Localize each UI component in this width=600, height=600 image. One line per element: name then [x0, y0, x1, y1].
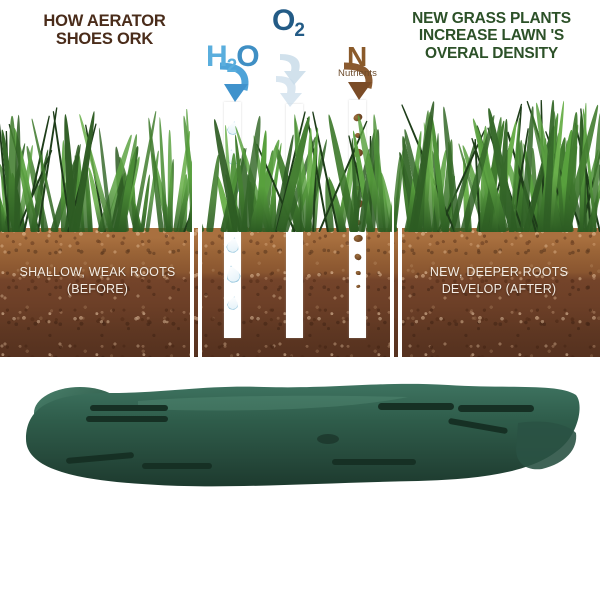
page-title-left: HOW AERATOR SHOES ORK	[12, 12, 197, 49]
h2o-o: O	[236, 40, 258, 73]
channel-tip	[224, 325, 241, 338]
nutrient-particle	[355, 270, 360, 274]
aerator-infographic-panel: HOW AERATOR SHOES ORK NEW GRASS PLANTS I…	[0, 0, 600, 357]
strap-slot	[332, 459, 416, 465]
oxygen-inflow-arrow-icon	[272, 52, 318, 118]
h2o-h: H	[206, 40, 227, 73]
strap-slot	[378, 403, 454, 410]
aerator-shoe-sole	[18, 379, 584, 509]
product-photo	[0, 357, 600, 600]
o2-subscript: 2	[294, 20, 304, 41]
o2-o: O	[272, 4, 294, 37]
caption-after: NEW, DEEPER ROOTS DEVELOP (AFTER)	[404, 264, 594, 298]
grass-zone-before	[0, 96, 192, 232]
label-nutrients: Nutrients	[338, 68, 377, 79]
strap-slot	[86, 416, 168, 422]
strap-slot	[90, 405, 168, 411]
grass-blade	[167, 130, 172, 232]
infographic-page: HOW AERATOR SHOES ORK NEW GRASS PLANTS I…	[0, 0, 600, 600]
h2o-subscript: 2	[227, 56, 237, 77]
caption-before: SHALLOW, WEAK ROOTS (BEFORE)	[6, 264, 189, 298]
panel-divider-right-b	[398, 96, 402, 357]
strap-slot	[142, 463, 212, 469]
grass-zone-after	[394, 94, 600, 232]
toe-flap	[516, 421, 576, 469]
channel-tip	[286, 325, 303, 338]
page-title-right: NEW GRASS PLANTS INCREASE LAWN 'S OVERAL…	[389, 10, 594, 62]
strap-slot	[458, 405, 534, 412]
vent-hole	[317, 434, 339, 444]
label-o2: O2	[272, 4, 304, 42]
channel-tip	[349, 325, 366, 338]
label-h2o: H2O	[206, 40, 259, 78]
